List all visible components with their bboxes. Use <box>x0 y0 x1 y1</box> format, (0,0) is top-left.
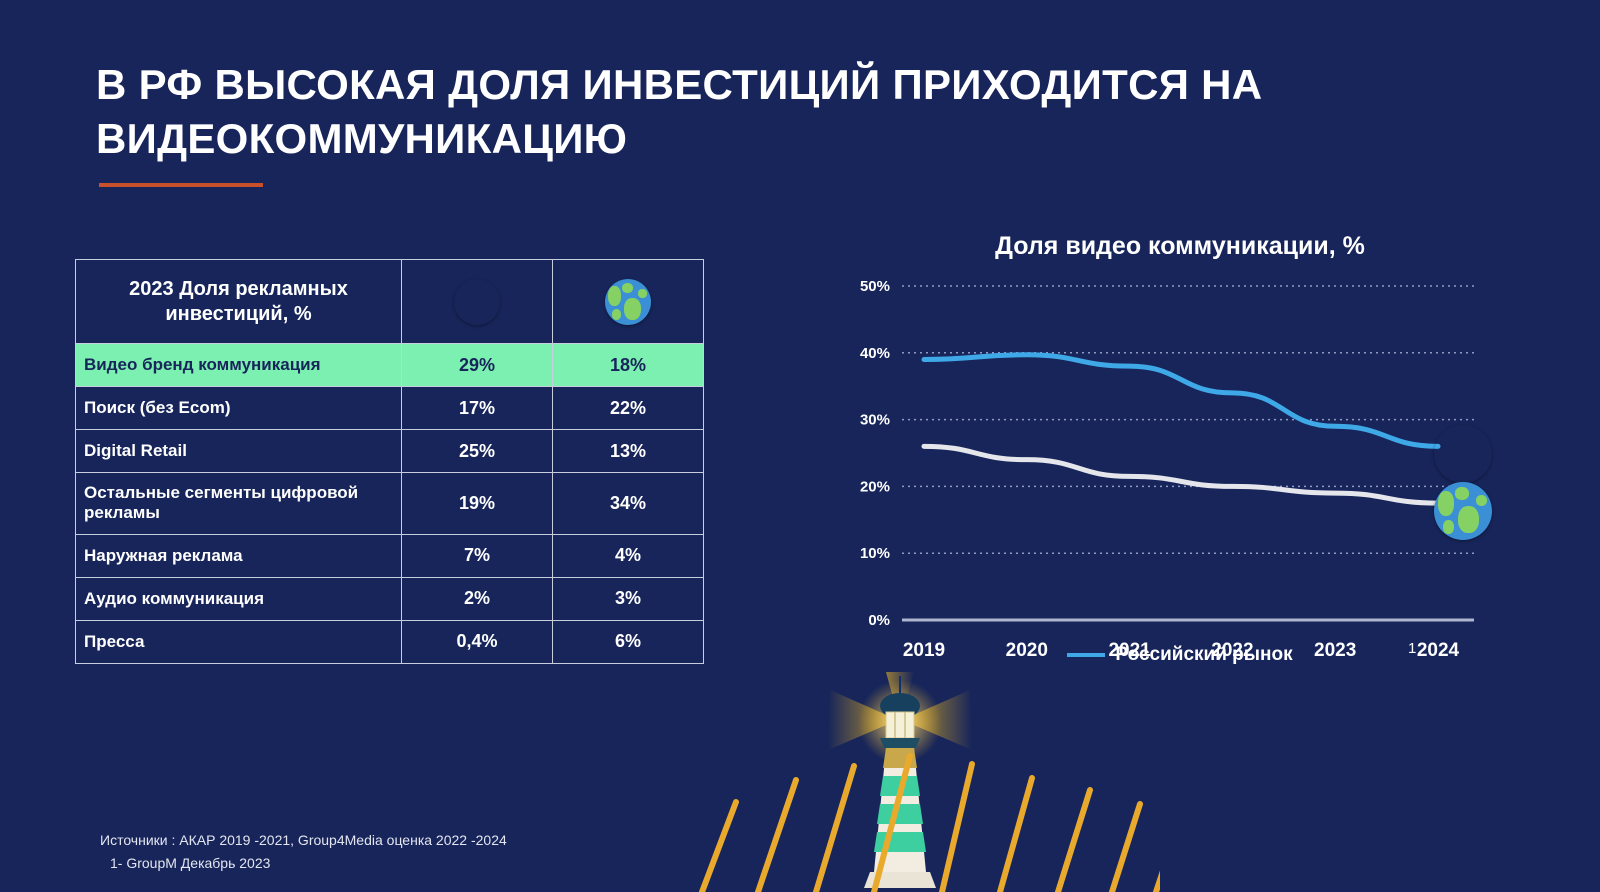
table-cell-russia: 2% <box>402 577 553 620</box>
title-accent-rule <box>99 183 263 187</box>
table-row: Поиск (без Ecom)17%22% <box>76 387 704 430</box>
table-cell-russia: 25% <box>402 430 553 473</box>
table-row: Наружная реклама7%4% <box>76 534 704 577</box>
legend-label-russia: Российский рынок <box>1115 644 1292 666</box>
table-cell-world: 22% <box>553 387 704 430</box>
y-axis-tick-label: 10% <box>860 545 890 562</box>
series-line-world <box>924 446 1438 503</box>
table-row: Аудио коммуникация2%3% <box>76 577 704 620</box>
chart-marker-world <box>1434 482 1492 540</box>
russia-flag-icon <box>454 279 500 325</box>
y-axis-tick-label: 30% <box>860 412 890 429</box>
table-cell-russia: 7% <box>402 534 553 577</box>
table-cell-category: Поиск (без Ecom) <box>76 387 402 430</box>
chart-marker-russia <box>1434 425 1492 483</box>
table-cell-category: Остальные сегменты цифровой рекламы <box>76 473 402 535</box>
russia-flag-icon <box>1434 425 1492 483</box>
table-header-label: 2023 Доля рекламных инвестиций, % <box>76 260 402 344</box>
table-cell-russia: 0,4% <box>402 620 553 663</box>
investment-share-table: 2023 Доля рекламных инвестиций, % Видео … <box>75 259 703 664</box>
table-header-russia <box>402 260 553 344</box>
table-cell-category: Аудио коммуникация <box>76 577 402 620</box>
table-cell-category: Видео бренд коммуникация <box>76 344 402 387</box>
table-header-world <box>553 260 704 344</box>
chart-legend: Российский рынок <box>830 644 1530 666</box>
table-header-row: 2023 Доля рекламных инвестиций, % <box>76 260 704 344</box>
series-line-russia <box>924 355 1438 447</box>
legend-swatch-russia <box>1067 653 1105 657</box>
y-axis-tick-label: 0% <box>868 612 890 629</box>
table-cell-world: 18% <box>553 344 704 387</box>
table-cell-russia: 19% <box>402 473 553 535</box>
sources-footer: Источники : АКАР 2019 -2021, Group4Media… <box>100 829 507 874</box>
chart-title: Доля видео коммуникации, % <box>830 232 1530 261</box>
table-cell-category: Пресса <box>76 620 402 663</box>
globe-icon <box>605 279 651 325</box>
table-row: Пресса0,4%6% <box>76 620 704 663</box>
sources-line-2: 1- GroupM Декабрь 2023 <box>100 852 507 874</box>
table-cell-world: 6% <box>553 620 704 663</box>
y-axis-tick-label: 50% <box>860 278 890 295</box>
lighthouse-illustration <box>640 672 1160 892</box>
table-row: Остальные сегменты цифровой рекламы19%34… <box>76 473 704 535</box>
table-cell-category: Digital Retail <box>76 430 402 473</box>
video-share-chart: Доля видео коммуникации, % 0%10%20%30%40… <box>830 232 1530 672</box>
page-title: В РФ ВЫСОКАЯ ДОЛЯ ИНВЕСТИЦИЙ ПРИХОДИТСЯ … <box>96 58 1336 166</box>
table-cell-category: Наружная реклама <box>76 534 402 577</box>
table-cell-russia: 17% <box>402 387 553 430</box>
globe-icon <box>1434 482 1492 540</box>
table-cell-russia: 29% <box>402 344 553 387</box>
table-cell-world: 34% <box>553 473 704 535</box>
y-axis-tick-label: 40% <box>860 345 890 362</box>
chart-footnote-marker: 1 <box>1408 640 1416 657</box>
table-row: Digital Retail25%13% <box>76 430 704 473</box>
table-row: Видео бренд коммуникация29%18% <box>76 344 704 387</box>
y-axis-tick-label: 20% <box>860 478 890 495</box>
table-cell-world: 3% <box>553 577 704 620</box>
table-cell-world: 13% <box>553 430 704 473</box>
table-cell-world: 4% <box>553 534 704 577</box>
chart-plot: 0%10%20%30%40%50% 2019202020212022202320… <box>830 276 1530 676</box>
sources-line-1: Источники : АКАР 2019 -2021, Group4Media… <box>100 829 507 851</box>
